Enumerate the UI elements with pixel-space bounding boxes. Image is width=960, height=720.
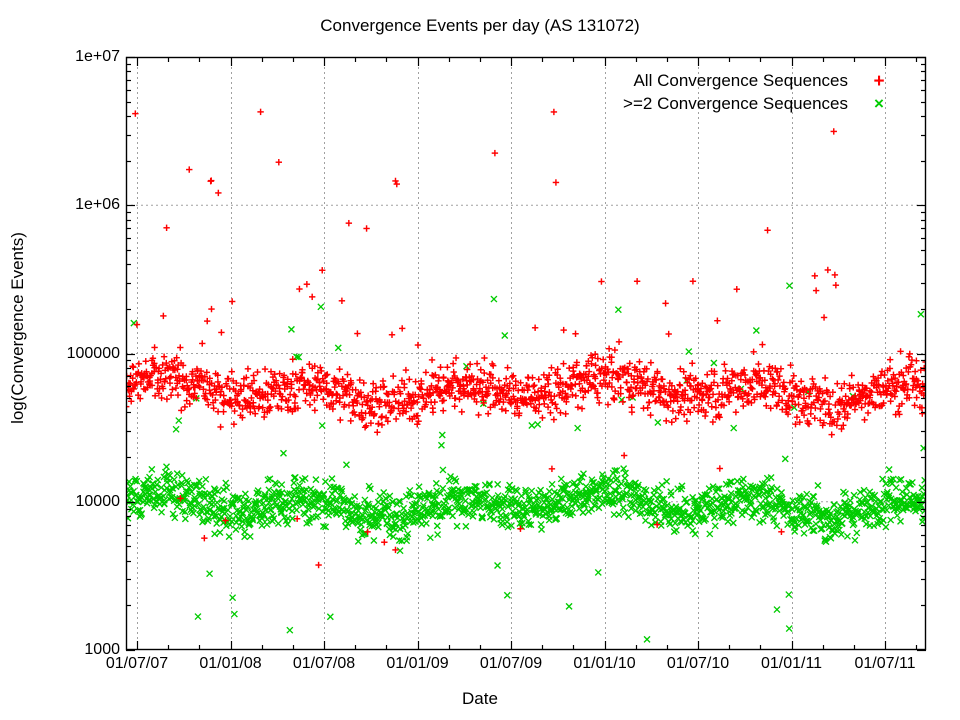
- data-point-plus: [218, 329, 224, 335]
- data-point-plus: [217, 424, 223, 430]
- x-tick-label: 01/07/11: [854, 655, 915, 673]
- data-point-plus: [849, 372, 855, 378]
- data-point-plus: [531, 382, 537, 388]
- data-point-cross: [440, 467, 446, 473]
- data-point-cross: [595, 569, 601, 575]
- data-point-cross: [504, 592, 510, 598]
- data-point-cross: [335, 345, 341, 351]
- data-point-cross: [774, 523, 780, 529]
- data-point-plus: [452, 403, 458, 409]
- data-point-cross: [711, 515, 717, 521]
- data-point-plus: [828, 431, 834, 437]
- data-point-plus: [307, 402, 313, 408]
- data-point-plus: [825, 267, 831, 273]
- data-point-plus: [481, 355, 487, 361]
- data-point-cross: [435, 532, 441, 538]
- data-point-cross: [397, 548, 403, 554]
- data-point-plus: [276, 159, 282, 165]
- data-point-plus: [636, 359, 642, 365]
- data-point-cross: [231, 611, 237, 617]
- data-point-plus: [822, 375, 828, 381]
- data-point-cross: [294, 507, 300, 513]
- data-point-plus: [912, 368, 918, 374]
- data-point-plus: [659, 376, 665, 382]
- data-point-cross: [450, 513, 456, 519]
- data-point-plus: [677, 382, 683, 388]
- data-point-plus: [812, 273, 818, 279]
- data-point-cross: [430, 513, 436, 519]
- data-point-plus: [560, 360, 566, 366]
- data-point-plus: [459, 409, 465, 415]
- data-point-plus: [821, 314, 827, 320]
- data-point-plus: [451, 369, 457, 375]
- data-point-plus: [478, 367, 484, 373]
- data-point-cross: [221, 498, 227, 504]
- data-point-cross: [615, 307, 621, 313]
- data-point-cross: [658, 523, 664, 529]
- data-point-cross: [616, 511, 622, 517]
- data-point-plus: [852, 406, 858, 412]
- data-point-cross: [221, 487, 227, 493]
- data-point-plus: [267, 404, 273, 410]
- data-point-plus: [210, 405, 216, 411]
- data-point-plus: [575, 404, 581, 410]
- data-point-plus: [722, 368, 728, 374]
- data-point-plus: [678, 404, 684, 410]
- data-point-plus: [532, 325, 538, 331]
- data-point-plus: [812, 415, 818, 421]
- data-point-plus: [437, 364, 443, 370]
- data-point-cross: [233, 527, 239, 533]
- data-point-plus: [734, 286, 740, 292]
- data-point-plus: [130, 364, 136, 370]
- data-point-plus: [381, 539, 387, 545]
- data-point-cross: [894, 512, 900, 518]
- data-point-cross: [711, 360, 717, 366]
- data-point-plus: [562, 411, 568, 417]
- data-point-cross: [852, 537, 858, 543]
- data-point-cross: [190, 510, 196, 516]
- data-point-plus: [450, 360, 456, 366]
- data-point-plus: [670, 408, 676, 414]
- data-point-cross: [247, 534, 253, 540]
- data-point-cross: [725, 518, 731, 524]
- data-point-cross: [655, 419, 661, 425]
- data-point-plus: [612, 347, 618, 353]
- data-point-plus: [673, 415, 679, 421]
- data-point-plus: [598, 278, 604, 284]
- data-point-plus: [245, 366, 251, 372]
- data-point-plus: [627, 360, 633, 366]
- data-point-plus: [440, 407, 446, 413]
- data-point-plus: [741, 367, 747, 373]
- legend-plus-icon: +: [868, 71, 890, 93]
- data-point-plus: [710, 419, 716, 425]
- data-point-plus: [414, 399, 420, 405]
- data-point-plus: [178, 407, 184, 413]
- data-point-cross: [566, 603, 572, 609]
- data-point-plus: [547, 410, 553, 416]
- x-tick-label: 01/01/08: [199, 655, 261, 673]
- data-point-plus: [553, 179, 559, 185]
- x-tick-label: 01/07/10: [667, 655, 729, 673]
- data-point-cross: [371, 537, 377, 543]
- data-point-plus: [665, 331, 671, 337]
- data-point-plus: [309, 294, 315, 300]
- data-point-cross: [730, 520, 736, 526]
- data-point-cross: [280, 450, 286, 456]
- data-point-plus: [215, 190, 221, 196]
- data-point-plus: [709, 404, 715, 410]
- data-point-cross: [753, 327, 759, 333]
- data-point-cross: [182, 516, 188, 522]
- data-point-cross: [288, 326, 294, 332]
- data-point-plus: [257, 109, 263, 115]
- data-point-cross: [731, 425, 737, 431]
- data-point-plus: [220, 409, 226, 415]
- data-point-plus: [423, 369, 429, 375]
- x-tick-label: 01/01/10: [573, 655, 635, 673]
- data-point-cross: [275, 520, 281, 526]
- y-tick-label-text: 10000: [76, 493, 121, 511]
- data-point-cross: [478, 505, 484, 511]
- data-point-cross: [439, 432, 445, 438]
- data-point-plus: [778, 529, 784, 535]
- data-point-cross: [782, 456, 788, 462]
- data-point-plus: [536, 376, 542, 382]
- data-point-plus: [381, 383, 387, 389]
- data-point-plus: [401, 384, 407, 390]
- data-point-plus: [524, 387, 530, 393]
- data-point-plus: [474, 360, 480, 366]
- y-tick-label-text: 1e+07: [75, 48, 120, 66]
- data-point-plus: [485, 410, 491, 416]
- data-point-plus: [809, 376, 815, 382]
- data-point-plus: [717, 465, 723, 471]
- legend-label: All Convergence Sequences: [633, 71, 848, 91]
- data-point-plus: [733, 409, 739, 415]
- data-point-plus: [557, 410, 563, 416]
- data-point-plus: [705, 400, 711, 406]
- data-point-cross: [217, 529, 223, 535]
- data-point-plus: [669, 419, 675, 425]
- data-point-plus: [573, 393, 579, 399]
- data-point-cross: [774, 607, 780, 613]
- data-point-cross: [171, 477, 177, 483]
- x-tick-label: 01/07/09: [480, 655, 542, 673]
- data-point-plus: [399, 325, 405, 331]
- data-point-plus: [304, 281, 310, 287]
- data-point-plus: [865, 410, 871, 416]
- data-point-plus: [648, 359, 654, 365]
- y-tick-label-text: 1e+06: [75, 196, 120, 214]
- data-point-plus: [496, 377, 502, 383]
- data-point-cross: [226, 534, 232, 540]
- data-point-cross: [919, 485, 925, 491]
- data-point-cross: [343, 462, 349, 468]
- data-point-cross: [786, 283, 792, 289]
- data-point-plus: [887, 398, 893, 404]
- data-point-cross: [491, 296, 497, 302]
- data-point-cross: [707, 531, 713, 537]
- data-point-plus: [704, 371, 710, 377]
- data-point-plus: [475, 412, 481, 418]
- data-point-cross: [164, 464, 170, 470]
- data-point-cross: [538, 487, 544, 493]
- data-point-plus: [663, 418, 669, 424]
- data-point-plus: [168, 392, 174, 398]
- data-point-cross: [176, 418, 182, 424]
- data-point-plus: [229, 368, 235, 374]
- data-point-plus: [714, 318, 720, 324]
- x-tick-label: 01/01/11: [761, 655, 822, 673]
- chart-container: Convergence Events per day (AS 131072) l…: [0, 0, 960, 720]
- data-point-cross: [416, 484, 422, 490]
- data-point-cross: [620, 505, 626, 511]
- data-point-plus: [406, 376, 412, 382]
- data-point-plus: [432, 399, 438, 405]
- data-point-plus: [208, 306, 214, 312]
- data-point-plus: [509, 374, 515, 380]
- data-point-plus: [644, 405, 650, 411]
- data-point-cross: [318, 304, 324, 310]
- data-point-cross: [319, 423, 325, 429]
- data-point-cross: [712, 523, 718, 529]
- data-point-plus: [504, 364, 510, 370]
- data-point-cross: [438, 442, 444, 448]
- data-point-cross: [173, 426, 179, 432]
- data-point-cross: [446, 478, 452, 484]
- data-point-cross: [575, 425, 581, 431]
- legend-label: >=2 Convergence Sequences: [623, 94, 848, 114]
- data-point-plus: [624, 379, 630, 385]
- data-point-cross: [423, 520, 429, 526]
- data-point-plus: [204, 318, 210, 324]
- data-point-plus: [560, 327, 566, 333]
- x-tick-label: 01/07/07: [106, 655, 168, 673]
- data-point-cross: [352, 494, 358, 500]
- data-point-cross: [580, 510, 586, 516]
- data-point-plus: [415, 342, 421, 348]
- data-point-plus: [375, 420, 381, 426]
- data-point-plus: [292, 400, 298, 406]
- data-point-plus: [363, 225, 369, 231]
- data-point-plus: [390, 373, 396, 379]
- data-point-plus: [551, 393, 557, 399]
- data-point-plus: [775, 377, 781, 383]
- data-point-plus: [579, 405, 585, 411]
- data-point-plus: [332, 384, 338, 390]
- data-point-plus: [169, 386, 175, 392]
- data-point-cross: [659, 482, 665, 488]
- data-point-plus: [229, 298, 235, 304]
- data-point-cross: [326, 512, 332, 518]
- data-point-cross: [224, 485, 230, 491]
- data-point-plus: [337, 417, 343, 423]
- data-point-cross: [854, 530, 860, 536]
- data-point-plus: [551, 416, 557, 422]
- data-point-cross: [529, 422, 535, 428]
- data-point-plus: [453, 355, 459, 361]
- data-point-plus: [163, 225, 169, 231]
- data-point-plus: [551, 109, 557, 115]
- data-point-plus: [177, 344, 183, 350]
- data-point-plus: [164, 396, 170, 402]
- data-point-plus: [392, 178, 398, 184]
- data-point-cross: [768, 475, 774, 481]
- data-point-plus: [812, 405, 818, 411]
- data-point-plus: [254, 369, 260, 375]
- data-point-cross: [230, 595, 236, 601]
- data-point-plus: [278, 396, 284, 402]
- data-point-plus: [617, 385, 623, 391]
- data-point-plus: [412, 378, 418, 384]
- data-point-plus: [441, 397, 447, 403]
- data-point-plus: [394, 181, 400, 187]
- data-point-plus: [262, 366, 268, 372]
- data-point-plus: [414, 413, 420, 419]
- data-point-cross: [664, 478, 670, 484]
- data-point-plus: [456, 396, 462, 402]
- data-point-plus: [430, 409, 436, 415]
- data-point-cross: [174, 471, 180, 477]
- data-point-cross: [195, 614, 201, 620]
- data-point-cross: [155, 477, 161, 483]
- data-point-plus: [403, 367, 409, 373]
- data-point-plus: [798, 378, 804, 384]
- data-point-cross: [898, 518, 904, 524]
- data-point-plus: [913, 394, 919, 400]
- data-point-cross: [381, 490, 387, 496]
- data-point-plus: [684, 418, 690, 424]
- data-point-plus: [206, 387, 212, 393]
- data-point-cross: [495, 562, 501, 568]
- data-point-plus: [826, 401, 832, 407]
- data-point-cross: [463, 523, 469, 529]
- data-point-plus: [548, 365, 554, 371]
- data-point-cross: [643, 518, 649, 524]
- data-point-plus: [759, 341, 765, 347]
- data-point-cross: [203, 476, 209, 482]
- data-point-cross: [644, 636, 650, 642]
- data-point-cross: [922, 508, 928, 514]
- data-point-plus: [182, 404, 188, 410]
- data-point-plus: [762, 394, 768, 400]
- data-point-plus: [690, 278, 696, 284]
- data-point-cross: [433, 480, 439, 486]
- data-point-plus: [919, 410, 925, 416]
- x-tick-label: 01/07/08: [293, 655, 355, 673]
- data-point-cross: [159, 509, 165, 515]
- data-point-plus: [339, 298, 345, 304]
- data-point-plus: [530, 383, 536, 389]
- legend-cross-icon: ×: [868, 94, 890, 114]
- data-point-cross: [454, 523, 460, 529]
- data-point-plus: [380, 378, 386, 384]
- data-point-cross: [673, 527, 679, 533]
- data-point-cross: [327, 614, 333, 620]
- data-point-plus: [541, 401, 547, 407]
- data-point-plus: [231, 408, 237, 414]
- data-point-cross: [883, 524, 889, 530]
- data-point-plus: [681, 411, 687, 417]
- data-point-plus: [290, 356, 296, 362]
- data-point-plus: [887, 356, 893, 362]
- data-point-plus: [554, 405, 560, 411]
- data-point-plus: [346, 220, 352, 226]
- data-point-plus: [870, 373, 876, 379]
- data-point-cross: [434, 523, 440, 529]
- data-point-cross: [692, 531, 698, 537]
- data-point-cross: [535, 421, 541, 427]
- data-point-cross: [831, 502, 837, 508]
- data-point-cross: [279, 482, 285, 488]
- data-point-plus: [315, 562, 321, 568]
- data-point-cross: [888, 517, 894, 523]
- data-point-plus: [344, 371, 350, 377]
- data-point-cross: [549, 481, 555, 487]
- data-point-plus: [831, 128, 837, 134]
- data-point-plus: [208, 177, 214, 183]
- data-point-cross: [618, 481, 624, 487]
- data-point-cross: [539, 527, 545, 533]
- data-point-plus: [647, 412, 653, 418]
- data-point-plus: [549, 466, 555, 472]
- data-point-plus: [201, 535, 207, 541]
- data-point-plus: [354, 330, 360, 336]
- data-point-plus: [336, 366, 342, 372]
- data-point-plus: [808, 411, 814, 417]
- data-point-cross: [502, 332, 508, 338]
- data-point-plus: [173, 385, 179, 391]
- data-point-plus: [535, 388, 541, 394]
- data-point-cross: [499, 506, 505, 512]
- data-point-plus: [187, 401, 193, 407]
- y-tick-label-text: 100000: [67, 345, 120, 363]
- data-point-cross: [502, 493, 508, 499]
- data-point-plus: [755, 361, 761, 367]
- data-point-cross: [922, 477, 928, 483]
- data-point-plus: [868, 389, 874, 395]
- data-point-plus: [721, 361, 727, 367]
- data-point-cross: [786, 592, 792, 598]
- data-point-cross: [404, 538, 410, 544]
- data-point-plus: [136, 361, 142, 367]
- data-point-cross: [199, 483, 205, 489]
- data-point-plus: [481, 370, 487, 376]
- data-point-cross: [918, 311, 924, 317]
- data-point-plus: [374, 429, 380, 435]
- data-point-cross: [886, 467, 892, 473]
- data-point-plus: [183, 397, 189, 403]
- data-point-cross: [690, 528, 696, 534]
- data-point-plus: [186, 166, 192, 172]
- data-point-plus: [379, 422, 385, 428]
- data-point-plus: [764, 227, 770, 233]
- data-point-plus: [834, 380, 840, 386]
- data-point-plus: [492, 150, 498, 156]
- data-point-plus: [689, 360, 695, 366]
- data-point-plus: [231, 421, 237, 427]
- data-point-cross: [242, 491, 248, 497]
- data-point-cross: [355, 538, 361, 544]
- data-point-plus: [832, 272, 838, 278]
- x-tick-label: 01/01/09: [386, 655, 448, 673]
- data-point-cross: [625, 514, 631, 520]
- data-point-plus: [389, 332, 395, 338]
- data-point-cross: [786, 626, 792, 632]
- data-point-plus: [913, 358, 919, 364]
